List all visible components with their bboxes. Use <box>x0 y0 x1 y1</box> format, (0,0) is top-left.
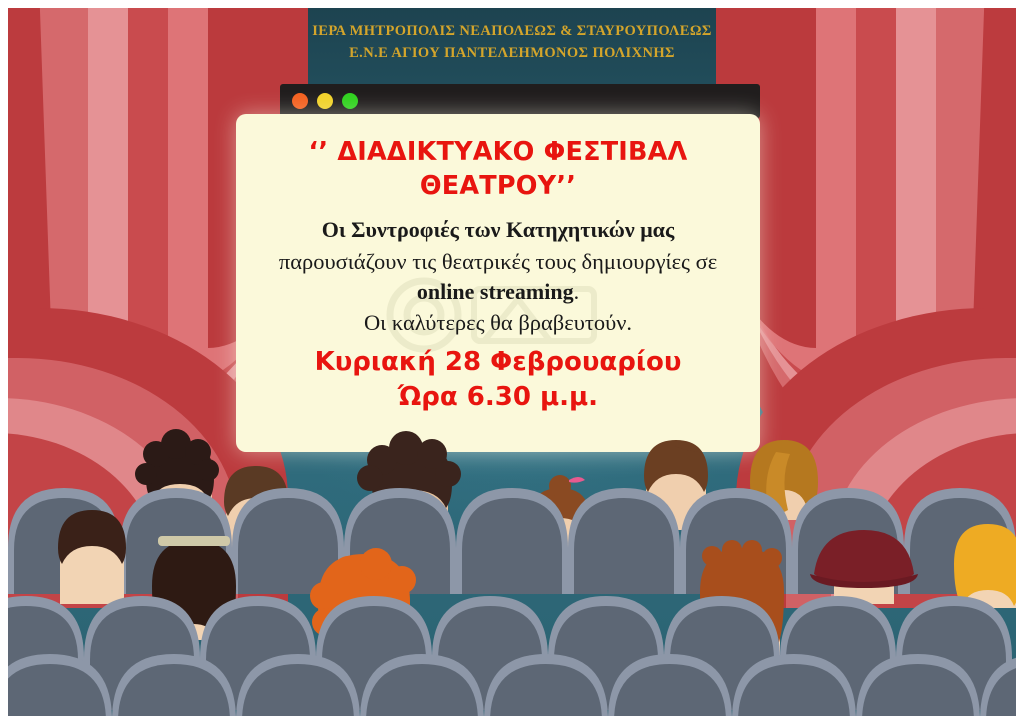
festival-title-line-1: ‘’ ΔΙΑΔΙΚΤΥΑΚΟ ΦΕΣΤΙΒΑΛ <box>250 136 746 170</box>
festival-title: ‘’ ΔΙΑΔΙΚΤΥΑΚΟ ΦΕΣΤΙΒΑΛ ΘΕΑΤΡΟΥ’’ <box>250 136 746 203</box>
description-line-3: online streaming. <box>250 278 746 307</box>
festival-title-line-2: ΘΕΑΤΡΟΥ’’ <box>250 170 746 204</box>
streaming-period: . <box>574 279 580 304</box>
page-margin-bottom <box>0 716 1024 724</box>
page-margin-top <box>0 0 1024 8</box>
description-line-2: παρουσιάζουν τις θεατρικές τους δημιουργ… <box>250 247 746 276</box>
description-line-4: Οι καλύτερες θα βραβευτούν. <box>250 308 746 337</box>
description-line-1: Οι Συντροφιές των Κατηχητικών μας <box>250 216 746 245</box>
browser-titlebar <box>280 84 760 118</box>
event-time: Ώρα 6.30 μ.μ. <box>250 381 746 415</box>
curtain-right <box>716 8 1016 608</box>
minimize-icon[interactable] <box>317 93 333 109</box>
window-controls <box>292 93 358 109</box>
page-margin-right <box>1016 0 1024 724</box>
festival-description: Οι Συντροφιές των Κατηχητικών μας παρουσ… <box>250 216 746 337</box>
close-icon[interactable] <box>292 93 308 109</box>
screen-content: ‘’ ΔΙΑΔΙΚΤΥΑΚΟ ΦΕΣΤΙΒΑΛ ΘΕΑΤΡΟΥ’’ Οι Συν… <box>236 114 760 452</box>
page-margin-left <box>0 0 8 724</box>
streaming-label: online streaming <box>417 279 574 304</box>
event-date: Κυριακή 28 Φεβρουαρίου <box>250 346 746 380</box>
maximize-icon[interactable] <box>342 93 358 109</box>
projection-screen: ‘’ ΔΙΑΔΙΚΤΥΑΚΟ ΦΕΣΤΙΒΑΛ ΘΕΑΤΡΟΥ’’ Οι Συν… <box>236 114 760 452</box>
browser-window: ‘’ ΔΙΑΔΙΚΤΥΑΚΟ ΦΕΣΤΙΒΑΛ ΘΕΑΤΡΟΥ’’ Οι Συν… <box>236 84 760 452</box>
poster: ΙΕΡΑ ΜΗΤΡΟΠΟΛΙΣ ΝΕΑΠΟΛΕΩΣ & ΣΤΑΥΡΟΥΠΟΛΕΩ… <box>0 0 1024 724</box>
